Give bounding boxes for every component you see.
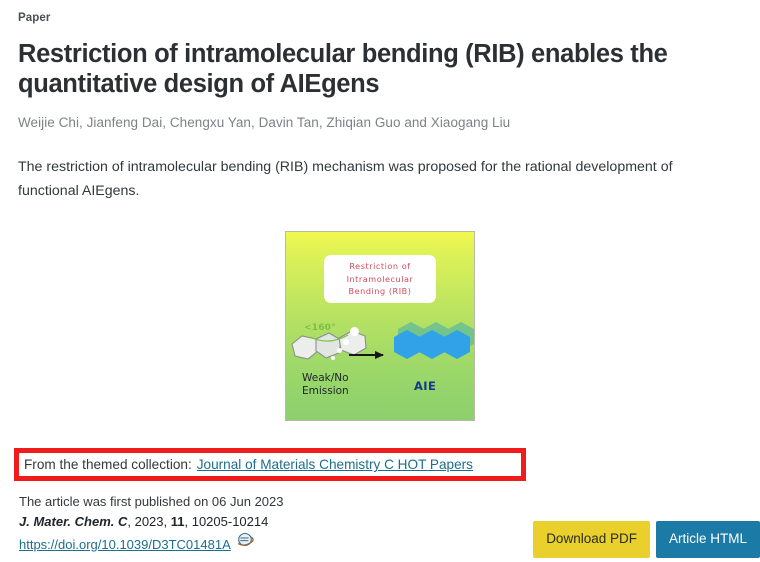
publication-meta: The article was first published on 06 Ju… [19,492,284,531]
aggregate-blue-hexagons [394,330,470,359]
rib-callout-line-1: Restriction of [324,260,436,273]
weak-emission-label: Weak/No Emission [302,372,349,398]
abstract-text: The restriction of intramolecular bendin… [18,155,728,203]
journal-pages: , 10205-10214 [185,514,269,529]
weak-emission-line-2: Emission [302,385,349,398]
download-pdf-button[interactable]: Download PDF [533,521,650,558]
graphical-abstract-image[interactable]: Restriction of Intramolecular Bending (R… [285,231,475,421]
rib-callout-line-3: Bending (RIB) [324,285,436,298]
doi-link[interactable]: https://doi.org/10.1039/D3TC01481A [19,536,231,553]
aie-label: AIE [414,379,436,393]
open-access-globe-icon [235,531,255,553]
journal-year: , 2023, [127,514,170,529]
graphical-abstract-wrapper: Restriction of Intramolecular Bending (R… [18,231,742,421]
doi-row: https://doi.org/10.1039/D3TC01481A [19,536,255,553]
journal-citation: J. Mater. Chem. C, 2023, 11, 10205-10214 [19,512,284,531]
author-list: Weijie Chi, Jianfeng Dai, Chengxu Yan, D… [18,114,742,132]
bond-angle-label: <160° [304,323,336,333]
page-title[interactable]: Restriction of intramolecular bending (R… [18,39,698,99]
article-html-button[interactable]: Article HTML [656,521,760,558]
themed-collection-highlight-box: From the themed collection: Journal of M… [14,448,526,481]
article-listing-page: Paper Restriction of intramolecular bend… [0,0,760,562]
transition-arrow-icon [349,354,383,356]
themed-collection-label: From the themed collection: [24,457,192,472]
rib-callout-box: Restriction of Intramolecular Bending (R… [324,255,436,303]
journal-name: J. Mater. Chem. C [19,514,127,529]
first-published-date: The article was first published on 06 Ju… [19,492,284,511]
action-buttons: Download PDF Article HTML [533,521,760,558]
weak-emission-line-1: Weak/No [302,372,349,385]
journal-volume: 11 [171,514,185,529]
article-type-label: Paper [18,0,742,25]
rib-callout-line-2: Intramolecular [324,273,436,286]
themed-collection-link[interactable]: Journal of Materials Chemistry C HOT Pap… [197,457,473,472]
